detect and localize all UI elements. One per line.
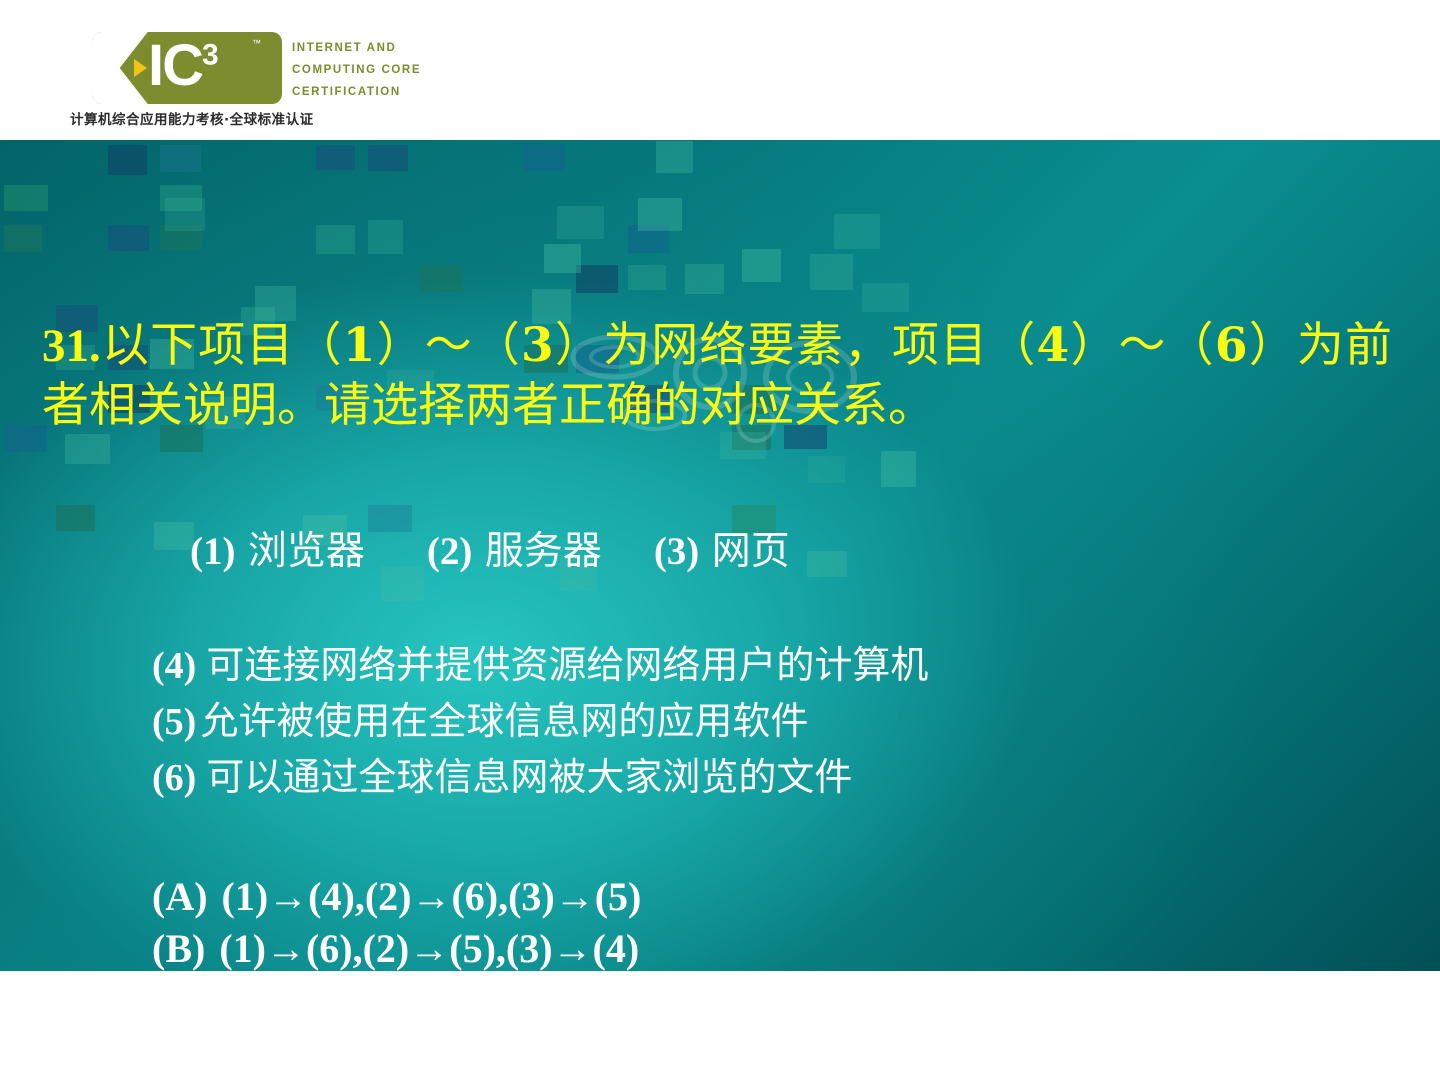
mosaic-tile — [316, 145, 355, 170]
ic3-logo: IC3 ™ INTERNET AND COMPUTING CORE CERTIF… — [70, 26, 380, 134]
logo-line-3: CERTIFICATION — [292, 81, 432, 103]
description-text-5: 允许被使用在全球信息网的应用软件 — [200, 699, 808, 743]
mosaic-tile — [368, 145, 408, 171]
mosaic-tile — [160, 145, 201, 172]
mosaic-tile — [4, 225, 42, 252]
logo-line-1: INTERNET AND — [292, 37, 432, 59]
element-label-3: (3) — [654, 530, 699, 573]
descriptions-list: (4)可连接网络并提供资源给网络用户的计算机 (5)允许被使用在全球信息网的应用… — [152, 638, 928, 806]
question-part-2: 1 — [343, 318, 376, 373]
network-elements-row: (1) 浏览器(2) 服务器(3) 网页 — [190, 528, 790, 576]
mosaic-tile — [628, 265, 666, 290]
description-label-5: (5) — [152, 701, 196, 743]
mosaic-tile — [160, 225, 202, 250]
mosaic-tile — [108, 225, 149, 251]
question-number: 31. — [42, 320, 101, 372]
mosaic-tile — [65, 434, 110, 464]
element-label-1: (1) — [190, 530, 235, 573]
question-part-8: 6 — [1215, 318, 1248, 373]
mosaic-tile — [160, 185, 202, 211]
logo-trademark-icon: ™ — [252, 38, 261, 48]
question-part-4: 3 — [521, 318, 554, 373]
mosaic-tile — [742, 249, 781, 282]
mosaic-tile — [368, 220, 403, 254]
mosaic-tile — [4, 425, 47, 452]
logo-superscript: 3 — [202, 39, 217, 72]
mosaic-tile — [108, 145, 147, 175]
question-part-7: ）～（ — [1069, 318, 1215, 373]
option-row-b[interactable]: (B)(1)→(6),(2)→(5),(3)→(4) — [152, 923, 641, 971]
description-row-4: (4)可连接网络并提供资源给网络用户的计算机 — [152, 638, 928, 694]
logo-tagline-lines: INTERNET AND COMPUTING CORE CERTIFICATIO… — [292, 37, 432, 103]
mosaic-tile — [4, 185, 48, 211]
option-text-b: (1)→(6),(2)→(5),(3)→(4) — [219, 926, 639, 971]
mosaic-tile — [557, 206, 604, 239]
mosaic-tile — [685, 264, 724, 294]
slide-body: 31.以下项目（1）～（3）为网络要素，项目（4）～（6）为前者相关说明。请选择… — [0, 140, 1440, 971]
mosaic-tile — [810, 254, 853, 290]
mosaic-tile — [862, 283, 909, 312]
mosaic-tile — [576, 265, 618, 293]
mosaic-tile — [881, 451, 916, 487]
description-label-6: (6) — [152, 757, 196, 799]
element-text-3: 网页 — [712, 529, 790, 574]
mosaic-tile — [420, 265, 463, 292]
option-key-a: (A) — [152, 874, 208, 919]
element-label-2: (2) — [427, 530, 472, 573]
mosaic-tile — [807, 551, 847, 577]
logo-arrow-icon — [134, 59, 147, 77]
description-row-5: (5)允许被使用在全球信息网的应用软件 — [152, 694, 928, 750]
mosaic-tile — [834, 214, 880, 249]
mosaic-tile — [720, 432, 766, 459]
question-part-6: 4 — [1037, 318, 1070, 373]
element-text-1: 浏览器 — [248, 529, 365, 574]
question-part-1: 以下项目（ — [101, 318, 343, 373]
mosaic-tile — [154, 522, 194, 550]
description-label-4: (4) — [152, 645, 196, 687]
mosaic-tile — [544, 244, 581, 273]
option-key-b: (B) — [152, 926, 205, 971]
description-text-6: 可以通过全球信息网被大家浏览的文件 — [206, 755, 852, 799]
mosaic-tile — [316, 225, 355, 254]
answer-options-list: (A)(1)→(4),(2)→(6),(3)→(5) (B)(1)→(6),(2… — [152, 871, 641, 971]
description-row-6: (6)可以通过全球信息网被大家浏览的文件 — [152, 750, 928, 806]
logo-wordmark: IC3 — [148, 35, 217, 97]
mosaic-tile — [165, 198, 205, 231]
slide-page: IC3 ™ INTERNET AND COMPUTING CORE CERTIF… — [0, 0, 1440, 1080]
mosaic-tile — [56, 505, 95, 531]
description-text-4: 可连接网络并提供资源给网络用户的计算机 — [206, 643, 928, 687]
option-row-a[interactable]: (A)(1)→(4),(2)→(6),(3)→(5) — [152, 871, 641, 923]
question-stem: 31.以下项目（1）～（3）为网络要素，项目（4）～（6）为前者相关说明。请选择… — [42, 316, 1392, 436]
slide-header: IC3 ™ INTERNET AND COMPUTING CORE CERTIF… — [0, 0, 1440, 140]
mosaic-tile — [656, 141, 693, 173]
logo-chinese-tagline: 计算机综合应用能力考核·全球标准认证 — [70, 108, 314, 128]
mosaic-tile — [808, 456, 845, 483]
question-part-5: ）为网络要素，项目（ — [554, 318, 1037, 373]
mosaic-tile — [524, 145, 565, 171]
mosaic-tile — [638, 198, 682, 231]
question-part-3: ）～（ — [375, 318, 521, 373]
logo-ic-text: IC — [148, 33, 202, 98]
element-text-2: 服务器 — [485, 529, 602, 574]
option-text-a: (1)→(4),(2)→(6),(3)→(5) — [222, 874, 642, 919]
mosaic-tile — [628, 225, 669, 253]
logo-line-2: COMPUTING CORE — [292, 59, 432, 81]
